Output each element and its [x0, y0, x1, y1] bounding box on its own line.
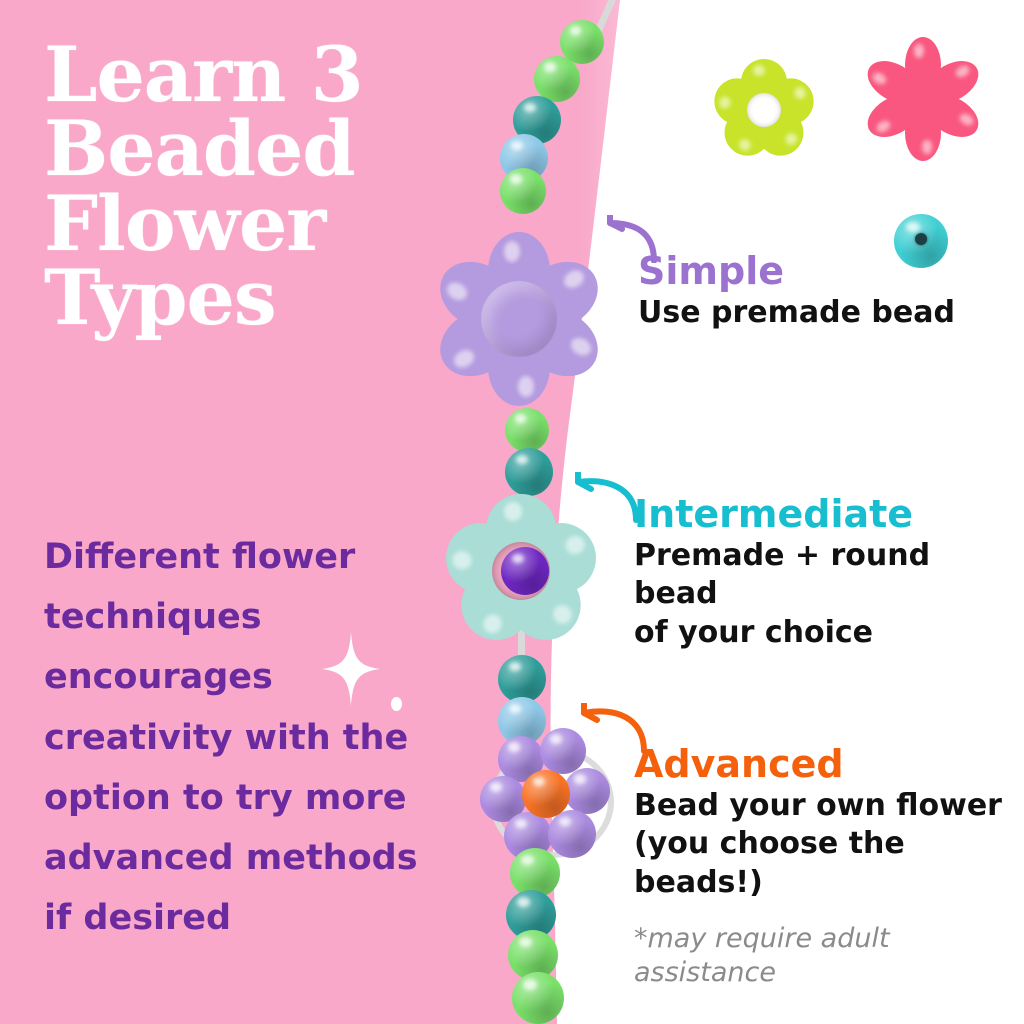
callout-intermediate-title: Intermediate — [634, 495, 1004, 535]
flower-center-hole — [747, 93, 781, 127]
callout-simple-title: Simple — [638, 252, 998, 292]
poster-canvas: Learn 3 Beaded Flower Types Different fl… — [0, 0, 1024, 1024]
round-bead — [505, 448, 553, 496]
callout-advanced-description-line1: Bead your own flower — [634, 787, 1014, 825]
callout-intermediate-description-line2: of your choice — [634, 614, 1004, 652]
page-title: Learn 3 Beaded Flower Types — [44, 38, 464, 336]
callout-intermediate-description-line1: Premade + round bead — [634, 537, 1004, 614]
callout-intermediate: Intermediate Premade + round bead of you… — [634, 495, 1004, 652]
flower-petal-bead — [564, 768, 610, 814]
headline-line-1: Learn 3 — [44, 38, 464, 112]
flower-petal-bead — [548, 810, 596, 858]
flower-center-bead — [522, 770, 570, 818]
callout-advanced-title: Advanced — [634, 745, 1014, 785]
headline-line-2: Beaded — [44, 112, 464, 186]
callout-advanced-description-line2: (you choose the beads!) — [634, 825, 1014, 902]
center-round-bead — [501, 547, 549, 595]
callout-advanced: Advanced Bead your own flower (you choos… — [634, 745, 1014, 990]
sparkle-icon — [322, 632, 380, 706]
callout-simple-description: Use premade bead — [638, 294, 998, 332]
headline-line-4: Types — [44, 261, 464, 335]
round-bead — [512, 972, 564, 1024]
round-bead — [500, 168, 546, 214]
pink-flower-bead — [862, 38, 984, 160]
dot-icon — [391, 697, 402, 711]
bead-hole — [915, 233, 927, 245]
callout-simple: Simple Use premade bead — [638, 252, 998, 332]
headline-line-3: Flower — [44, 187, 464, 261]
round-bead — [534, 56, 580, 102]
round-bead — [498, 655, 546, 703]
flower-center — [481, 281, 557, 357]
purple-flower-bead — [430, 228, 608, 410]
lead-paragraph: Different flower techniques encourages c… — [44, 527, 444, 948]
lime-flower-bead — [712, 58, 816, 162]
curved-arrow-left-icon — [562, 472, 640, 524]
round-bead — [505, 408, 549, 452]
callout-advanced-note: *may require adult assistance — [634, 922, 1014, 990]
flower-center — [901, 77, 945, 121]
